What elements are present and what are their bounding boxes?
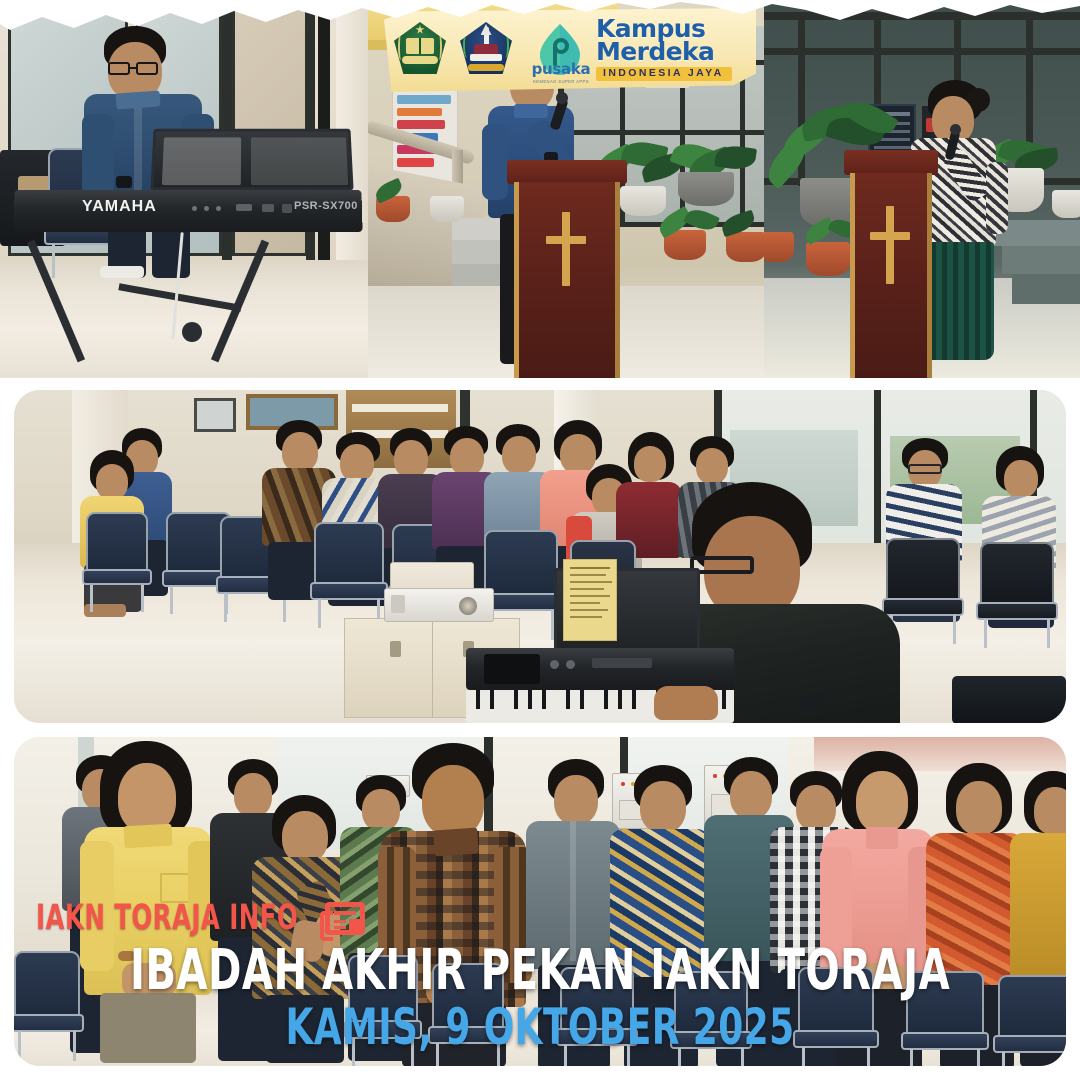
chair xyxy=(86,512,148,610)
pusaka-logo: pusaka KEMENAG SUPER APPS xyxy=(532,20,588,78)
chair xyxy=(674,971,748,1066)
projector xyxy=(384,588,494,622)
photo-preacher-female xyxy=(764,0,1080,378)
kampus-merdeka-banner: pusaka KEMENAG SUPER APPS Kampus Merdeka… xyxy=(384,8,756,92)
pulpit-with-cross xyxy=(514,160,620,378)
keyboard-model-text: PSR-SX700 xyxy=(294,200,358,212)
indonesia-jaya-ribbon: INDONESIA JAYA xyxy=(596,67,732,81)
person-standing xyxy=(84,741,218,1063)
pusaka-sublabel: KEMENAG SUPER APPS xyxy=(530,79,592,84)
pulpit-with-cross xyxy=(850,150,932,378)
chair xyxy=(432,963,504,1066)
chair xyxy=(998,975,1066,1066)
yamaha-brand-text: YAMAHA xyxy=(82,198,157,216)
chair xyxy=(314,522,384,626)
photo-congregation-standing xyxy=(14,737,1066,1066)
photo-keyboardist-solo: YAMAHA PSR-SX700 xyxy=(0,0,368,378)
photo-congregation-seated xyxy=(14,390,1066,723)
music-stand xyxy=(554,568,700,654)
kampus-line2: Merdeka xyxy=(596,40,746,63)
chair xyxy=(980,542,1054,646)
chair xyxy=(560,967,634,1066)
pusaka-wordmark: pusaka xyxy=(530,60,592,78)
kemenag-logo xyxy=(394,22,446,74)
song-sheet xyxy=(563,559,617,641)
kampus-merdeka-wordmark: Kampus Merdeka INDONESIA JAYA xyxy=(596,17,746,81)
poster-canvas: YAMAHA PSR-SX700 xyxy=(0,0,1080,1080)
chair xyxy=(14,951,80,1059)
chair xyxy=(798,967,874,1066)
chair xyxy=(348,955,418,1066)
chair xyxy=(906,971,984,1066)
iakn-toraja-logo xyxy=(460,22,512,74)
